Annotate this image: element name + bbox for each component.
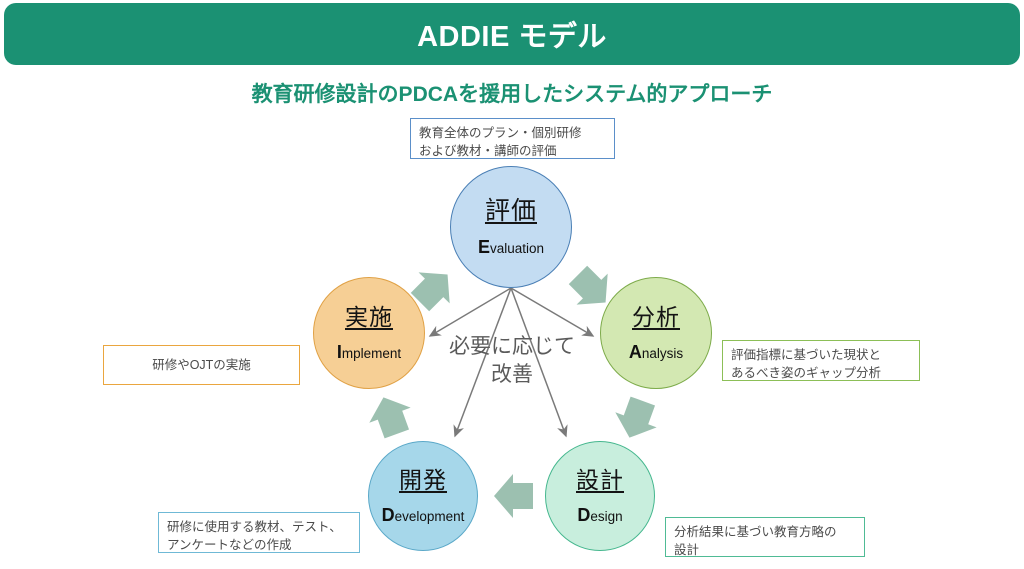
callout-implement-line-1: 研修やOJTの実施 [152,356,251,374]
center-caption-line-1: 必要に応じて [412,333,612,361]
callout-design-line-1: 分析結果に基づい教育方略の [674,523,856,541]
node-development[interactable]: 開発 Development [368,441,478,551]
callout-analysis: 評価指標に基づいた現状と あるべき姿のギャップ分析 [722,340,920,381]
node-development-jp-label: 開発 [399,468,447,493]
radial-arrow-to-analysis [511,288,593,336]
arrow-design-to-development [494,474,533,518]
slide-canvas: ADDIE モデル 教育研修設計のPDCAを援用したシステム的アプローチ [0,0,1024,569]
node-analysis[interactable]: 分析 Analysis [600,277,712,389]
node-design-jp-label: 設計 [576,468,624,493]
node-design-en-label: Design [577,506,622,524]
callout-evaluation-line-2: および教材・講師の評価 [419,142,606,160]
callout-evaluation-line-1: 教育全体のプラン・個別研修 [419,124,606,142]
node-analysis-jp-label: 分析 [632,305,680,330]
node-analysis-en-label: Analysis [629,343,683,361]
addie-cycle-diagram: 必要に応じて 改善 評価 Evaluation 分析 Analysis 設計 D… [0,0,1024,569]
node-development-en-label: Development [382,506,465,524]
node-design[interactable]: 設計 Design [545,441,655,551]
callout-implement: 研修やOJTの実施 [103,345,300,385]
node-implement-jp-label: 実施 [345,305,393,330]
node-evaluation-en-label: Evaluation [478,238,544,256]
callout-development-line-1: 研修に使用する教材、テスト、 [167,518,351,536]
callout-analysis-line-2: あるべき姿のギャップ分析 [731,364,911,382]
callout-evaluation: 教育全体のプラン・個別研修 および教材・講師の評価 [410,118,615,159]
node-evaluation[interactable]: 評価 Evaluation [450,166,572,288]
node-implement-en-label: Implement [337,343,401,361]
node-implement[interactable]: 実施 Implement [313,277,425,389]
node-evaluation-jp-label: 評価 [485,198,537,226]
callout-development: 研修に使用する教材、テスト、 アンケートなどの作成 [158,512,360,553]
callout-development-line-2: アンケートなどの作成 [167,536,351,554]
center-caption: 必要に応じて 改善 [412,333,612,390]
arrow-development-to-implement [363,390,418,442]
arrow-analysis-to-design [609,394,664,446]
callout-analysis-line-1: 評価指標に基づいた現状と [731,346,911,364]
center-caption-line-2: 改善 [412,361,612,389]
callout-design-line-2: 設計 [674,541,856,559]
radial-arrow-to-implement [430,288,511,336]
callout-design: 分析結果に基づい教育方略の 設計 [665,517,865,557]
